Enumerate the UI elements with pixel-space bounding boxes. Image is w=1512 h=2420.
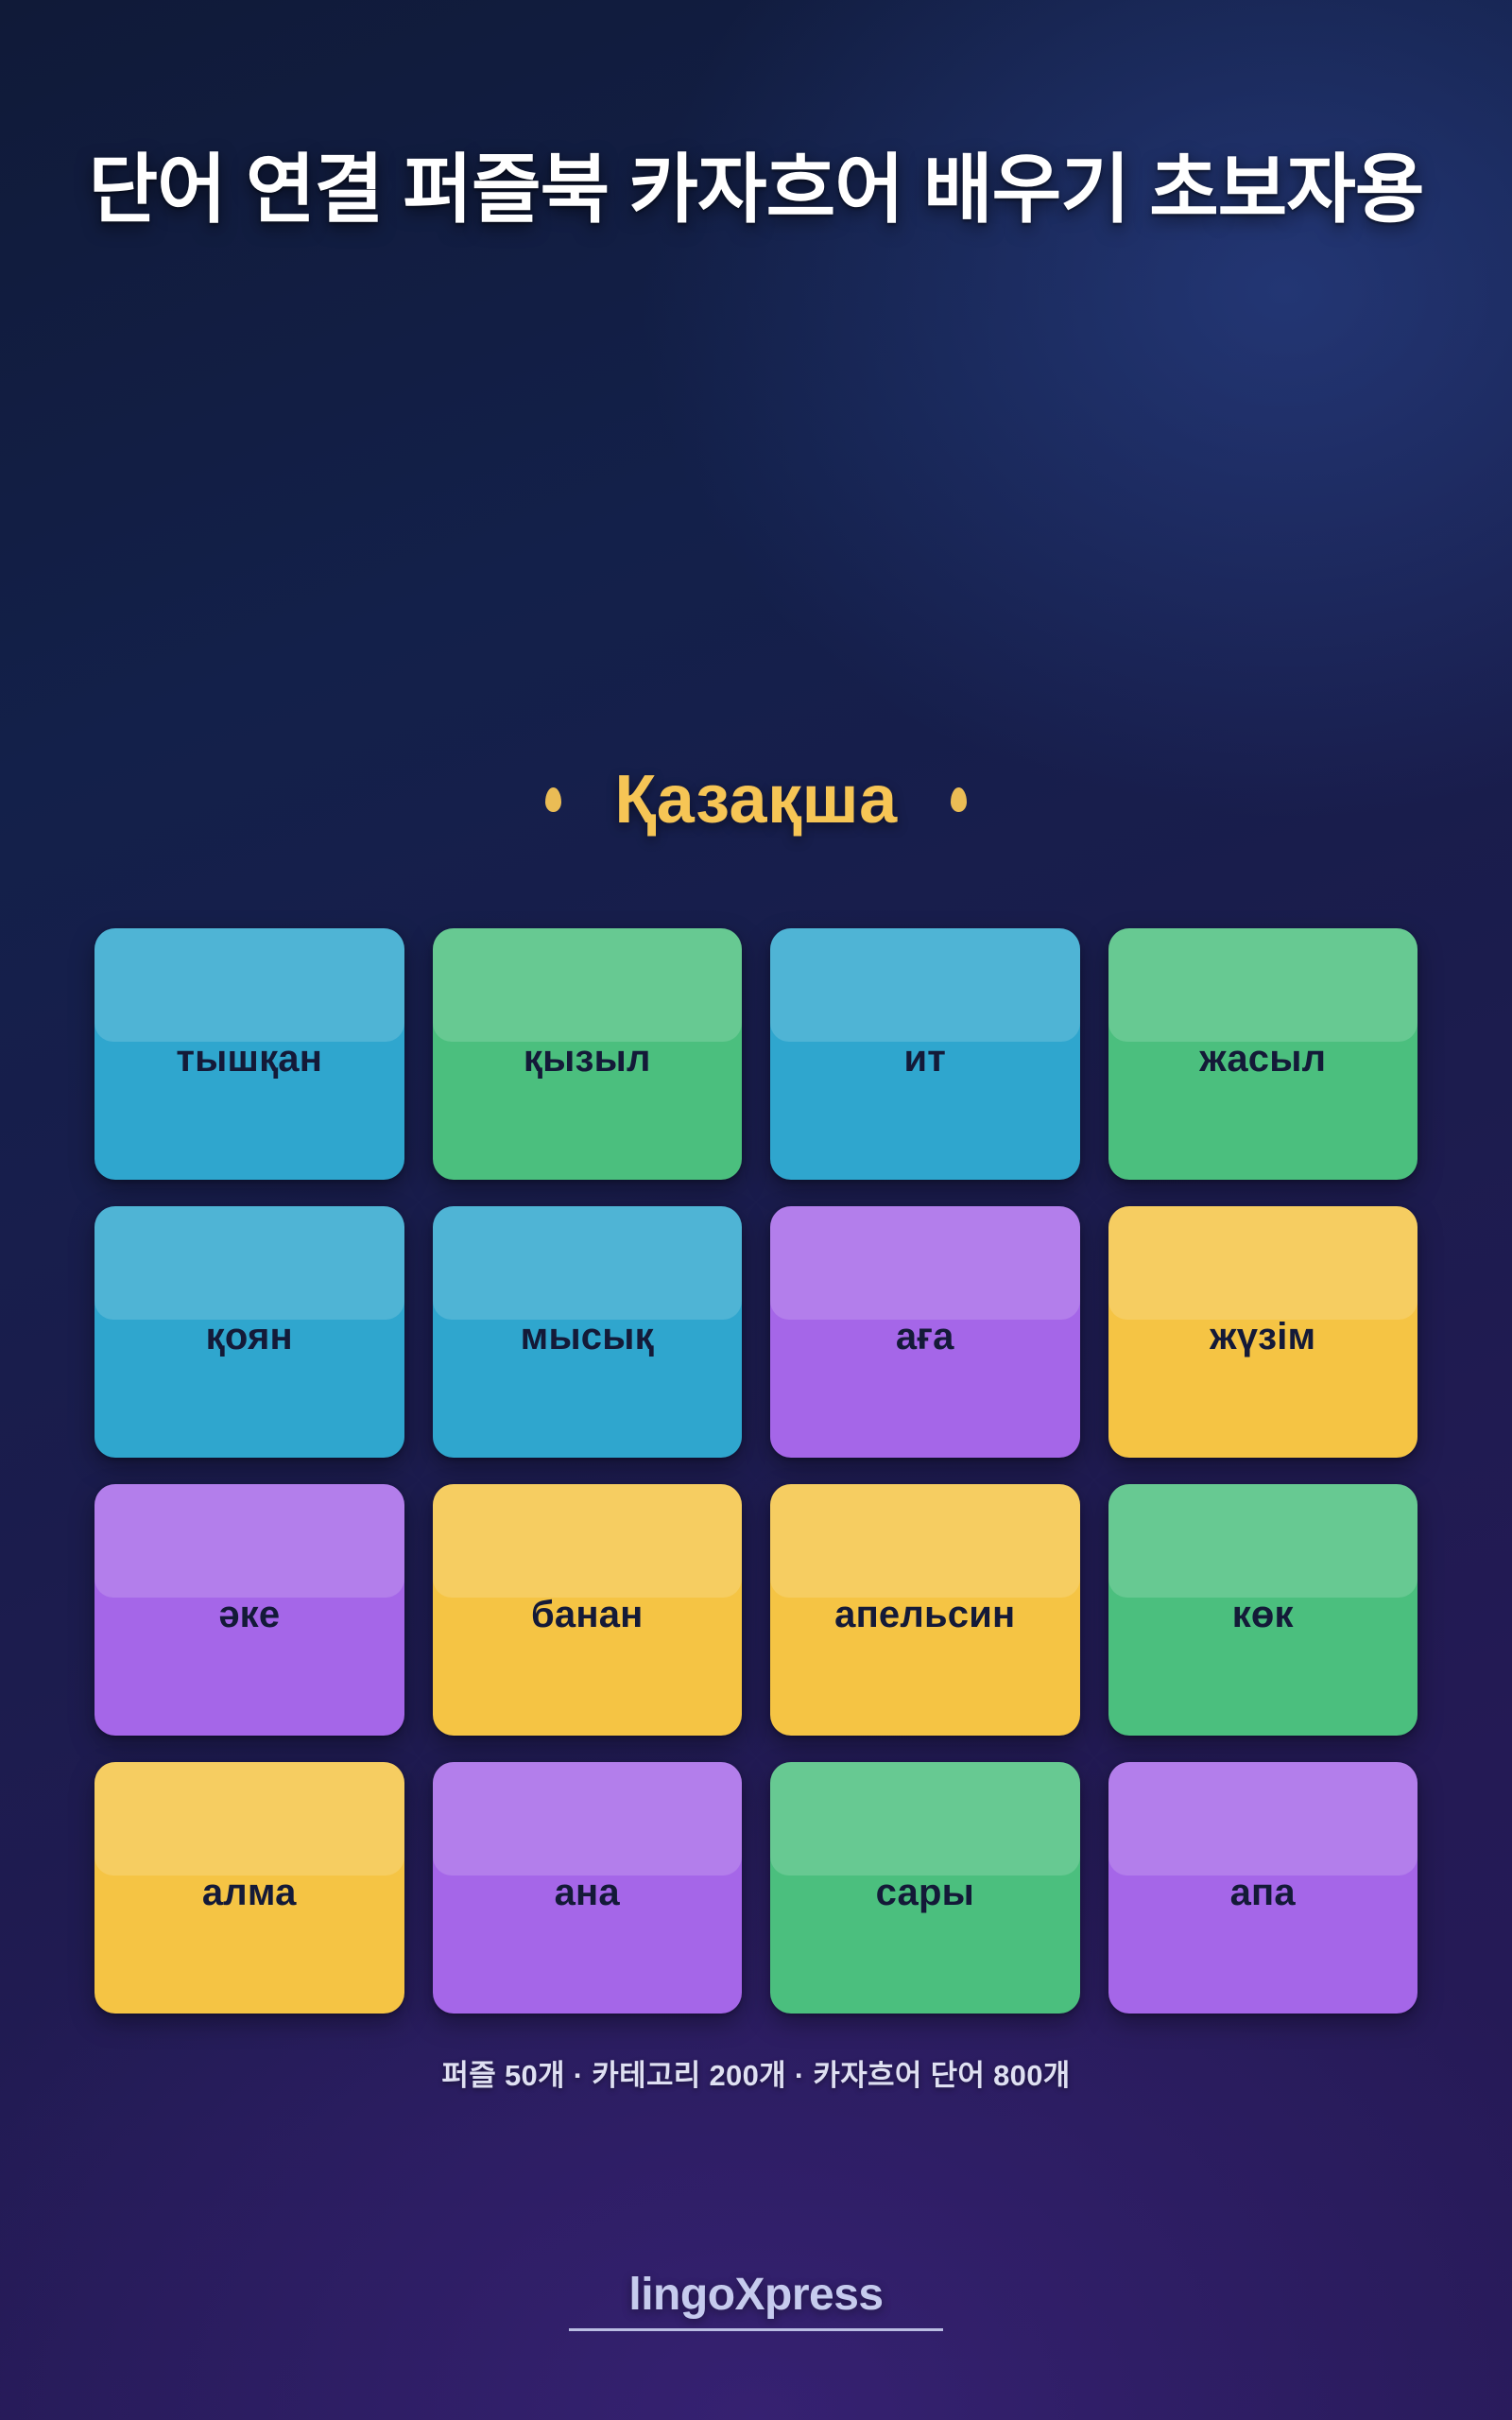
dot-ornament-right-icon — [951, 787, 967, 812]
word-tile[interactable]: жүзім — [1108, 1206, 1418, 1458]
word-tile[interactable]: қоян — [94, 1206, 404, 1458]
word-tile-label: жүзім — [1200, 1316, 1325, 1358]
dot-ornament-left-icon — [545, 787, 561, 812]
language-label: Қазақша — [614, 761, 897, 838]
word-tile-label: сары — [867, 1872, 984, 1914]
word-tile-grid: тышқанқызылитжасылқоянмысықағажүзімәкеба… — [94, 928, 1417, 2014]
brand-name: lingoXpress — [628, 2269, 883, 2321]
word-tile-label: мысық — [511, 1316, 663, 1358]
word-tile[interactable]: ит — [770, 928, 1080, 1180]
word-tile[interactable]: апельсин — [770, 1484, 1080, 1736]
word-tile[interactable]: банан — [433, 1484, 743, 1736]
word-tile-label: алма — [193, 1872, 306, 1914]
language-heading: Қазақша — [0, 761, 1512, 838]
page-title: 단어 연결 퍼즐북 카자흐어 배우기 초보자용 — [0, 144, 1512, 236]
word-tile-label: аға — [886, 1316, 964, 1358]
word-tile[interactable]: апа — [1108, 1762, 1418, 2014]
word-tile-label: жасыл — [1190, 1038, 1335, 1080]
word-tile[interactable]: көк — [1108, 1484, 1418, 1736]
word-tile[interactable]: жасыл — [1108, 928, 1418, 1180]
word-tile[interactable]: аға — [770, 1206, 1080, 1458]
word-tile[interactable]: алма — [94, 1762, 404, 2014]
word-tile-label: ана — [545, 1872, 629, 1914]
word-tile[interactable]: сары — [770, 1762, 1080, 2014]
word-tile-label: апельсин — [825, 1594, 1024, 1636]
stats-line: 퍼즐 50개 · 카테고리 200개 · 카자흐어 단어 800개 — [0, 2051, 1512, 2094]
word-tile-label: ит — [894, 1038, 955, 1080]
word-tile-label: тышқан — [166, 1038, 332, 1080]
word-tile[interactable]: мысық — [433, 1206, 743, 1458]
brand-footer: lingoXpress — [0, 2269, 1512, 2331]
word-tile-label: әке — [209, 1594, 289, 1636]
word-tile-label: қызыл — [514, 1038, 661, 1080]
word-tile-label: қоян — [197, 1316, 302, 1358]
word-tile-label: банан — [522, 1594, 653, 1636]
word-tile[interactable]: әке — [94, 1484, 404, 1736]
word-tile-label: көк — [1223, 1594, 1303, 1636]
word-tile[interactable]: тышқан — [94, 928, 404, 1180]
word-tile-label: апа — [1221, 1872, 1305, 1914]
brand-underline — [569, 2328, 943, 2331]
word-tile[interactable]: ана — [433, 1762, 743, 2014]
word-tile[interactable]: қызыл — [433, 928, 743, 1180]
